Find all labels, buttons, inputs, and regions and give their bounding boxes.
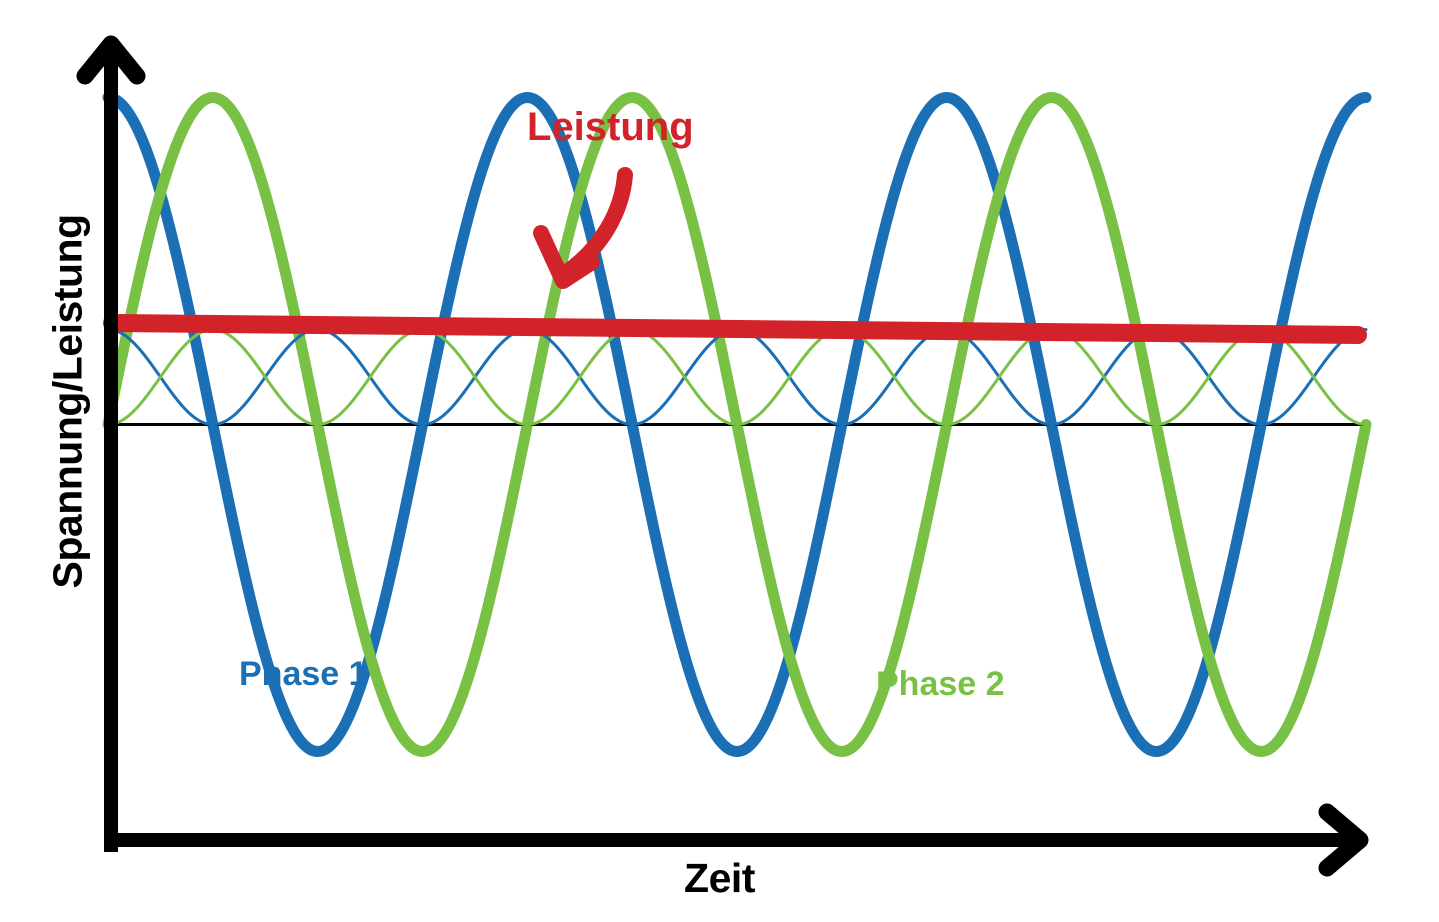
- curve-total-power-line: [112, 323, 1358, 335]
- chart-canvas: Leistung Phase 1 Phase 2 Spannung/Leistu…: [0, 0, 1439, 922]
- phase2-series-label: Phase 2: [876, 665, 1005, 704]
- y-axis-title: Spannung/Leistung: [45, 289, 92, 589]
- leistung-annotation-label: Leistung: [527, 105, 694, 150]
- waveform-plot: [0, 0, 1439, 922]
- phase1-series-label: Phase 1: [239, 655, 368, 694]
- x-axis-title: Zeit: [0, 855, 1439, 902]
- y-axis: [85, 44, 137, 852]
